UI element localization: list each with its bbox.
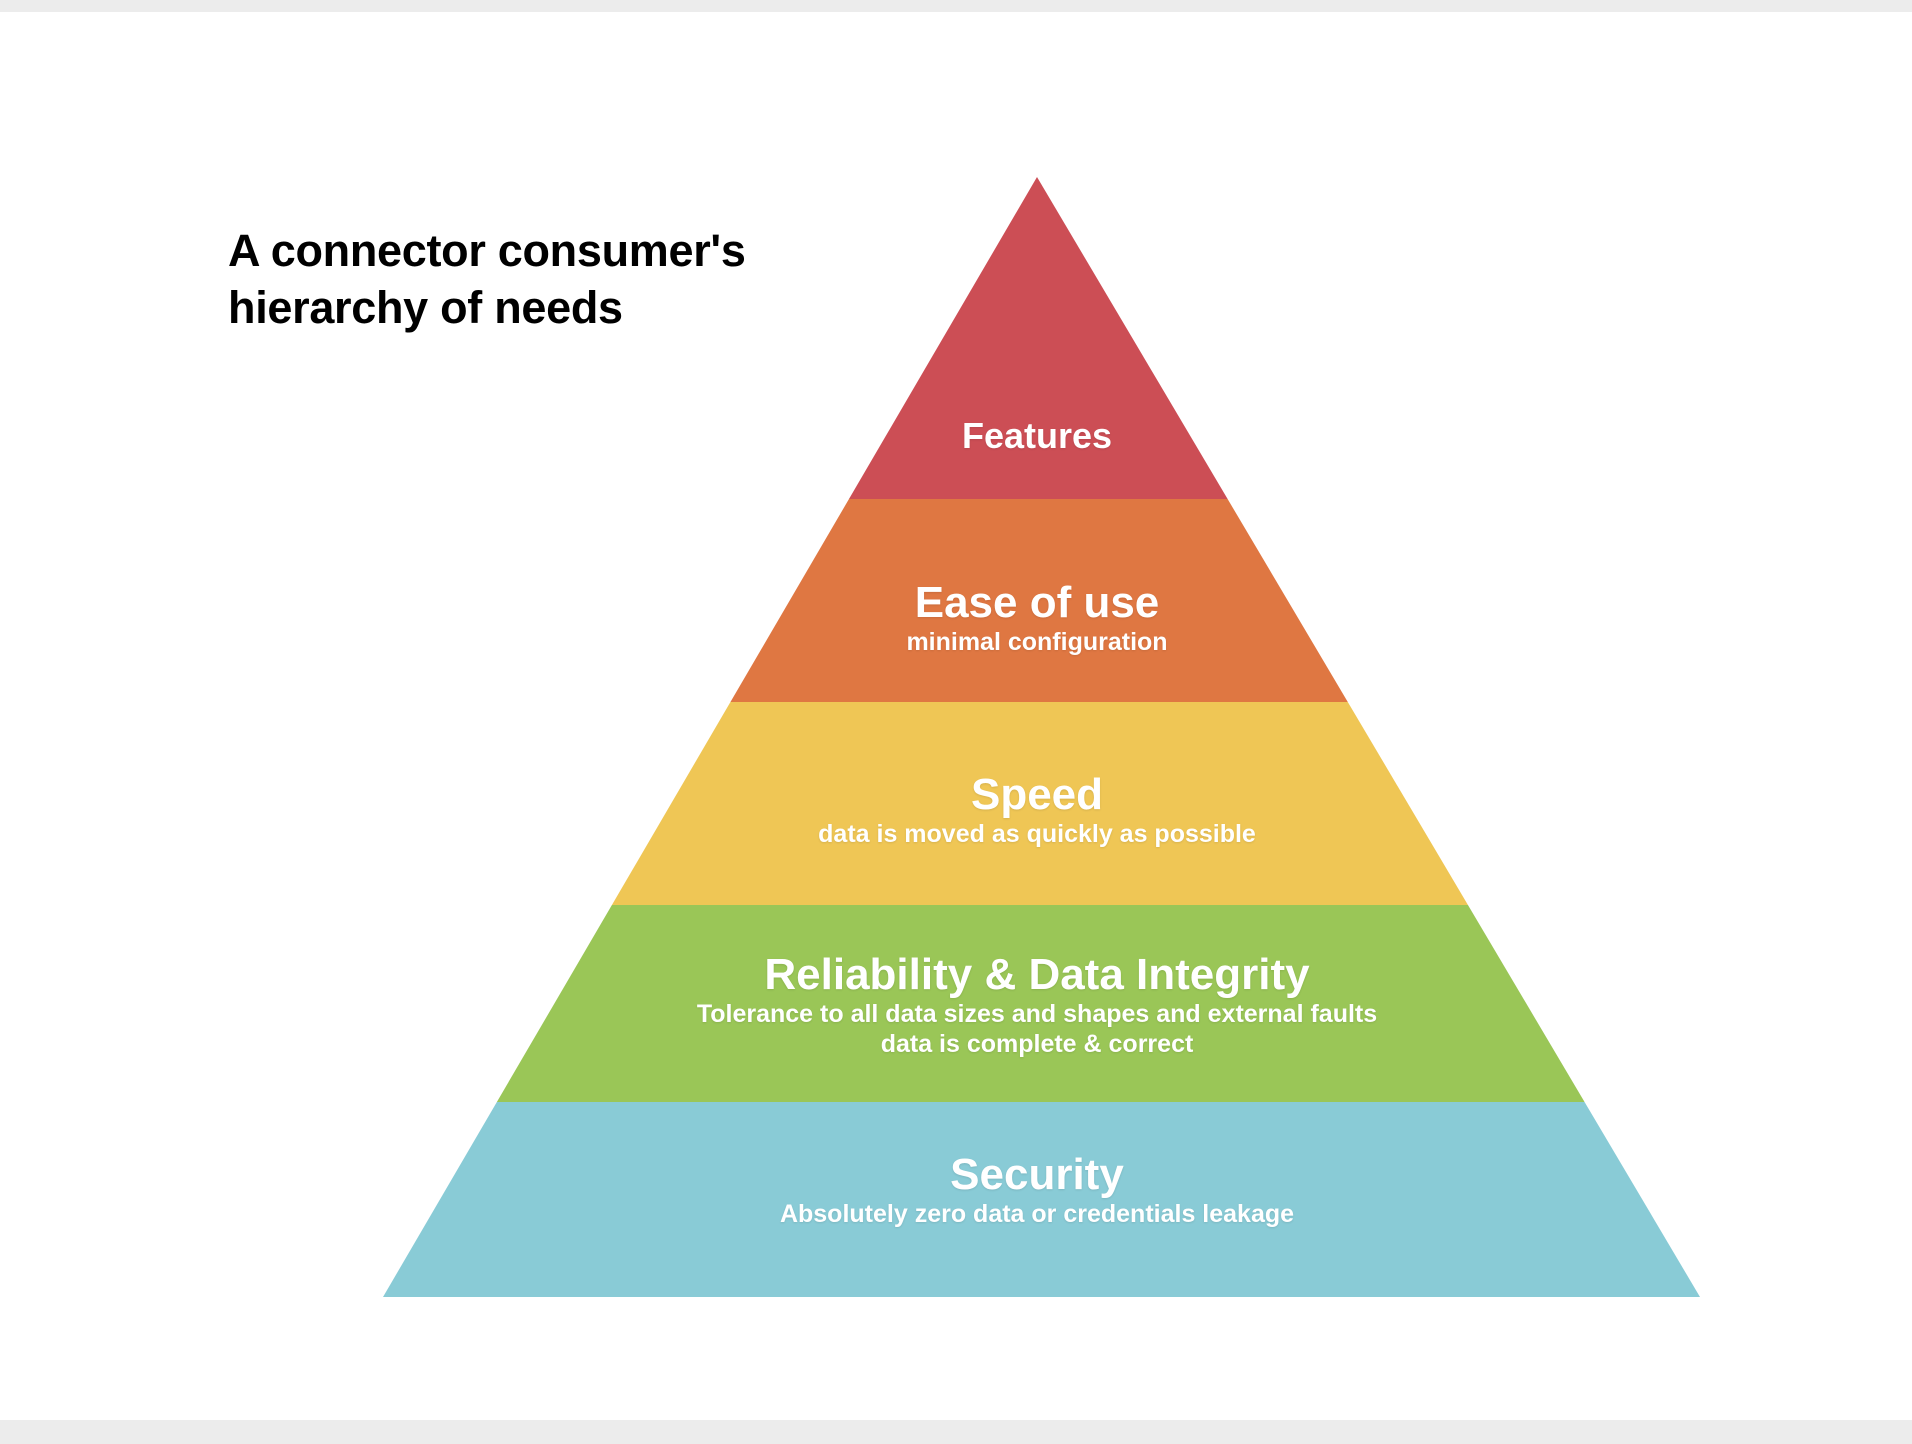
pyramid-band-speed[interactable] — [612, 702, 1468, 905]
pyramid-band-reliability-data-integrity[interactable] — [497, 905, 1585, 1102]
pyramid-band-features[interactable] — [849, 177, 1228, 499]
pyramid-shapes — [0, 12, 1912, 1444]
pyramid-band-security[interactable] — [383, 1102, 1700, 1297]
slide-canvas: A connector consumer's hierarchy of need… — [0, 12, 1912, 1420]
pyramid-band-ease-of-use[interactable] — [730, 499, 1347, 702]
hierarchy-of-needs-pyramid: Features Ease of use minimal configurati… — [0, 12, 1912, 1444]
